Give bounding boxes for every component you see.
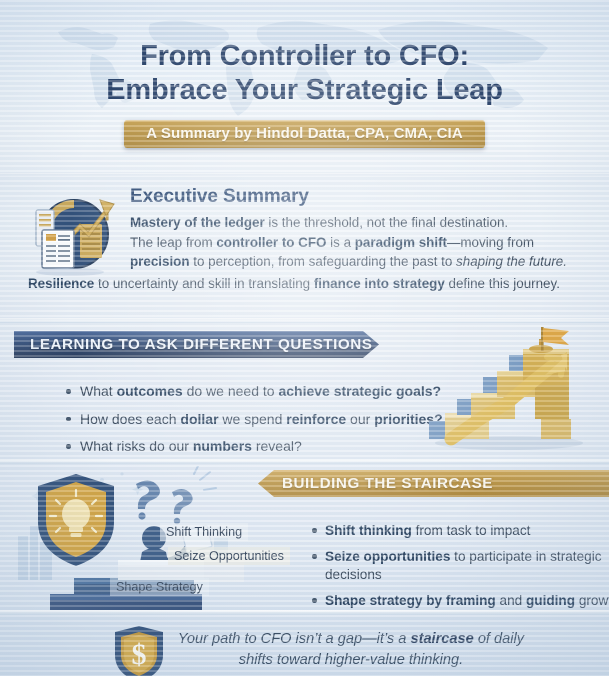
exec-line4-b: to uncertainty and skill in translating xyxy=(94,276,314,291)
building-staircase-section: BUILDING THE STAIRCASE Shift thinking fr… xyxy=(0,464,609,610)
page-title: From Controller to CFO: Embrace Your Str… xyxy=(0,0,609,107)
question-item: How does each dollar we spend reinforce … xyxy=(66,411,466,429)
header-section: From Controller to CFO: Embrace Your Str… xyxy=(0,0,609,176)
staircase-list: Shift thinking from task to impactSeize … xyxy=(272,522,609,610)
exec-line2-d: paradigm shift xyxy=(355,235,447,250)
exec-line1-rest: is the threshold, not the final destinat… xyxy=(265,215,508,230)
author-badge: A Summary by Hindol Datta, CPA, CMA, CIA xyxy=(124,120,485,148)
questions-list: What outcomes do we need to achieve stra… xyxy=(26,383,466,459)
question-item-segment: reveal? xyxy=(252,438,302,454)
dollar-shield-icon: $ xyxy=(112,625,166,676)
ledger-growth-icon xyxy=(22,186,118,278)
question-item-segment: What xyxy=(80,383,117,399)
step-label-shape-strategy: Shape Strategy xyxy=(110,578,209,596)
golden-staircase-illustration xyxy=(411,327,601,455)
shield-dollar-glyph: $ xyxy=(132,638,147,671)
exec-line3-c: shaping the future. xyxy=(456,254,567,269)
staircase-item: Shift thinking from task to impact xyxy=(312,522,609,539)
staircase-item-segment: and xyxy=(496,593,526,608)
exec-line2-e: —moving from xyxy=(447,235,534,250)
question-item-segment: outcomes xyxy=(117,383,183,399)
exec-line4-c: finance into strategy xyxy=(314,276,445,291)
footer-quote-b: staircase xyxy=(410,631,473,647)
question-item: What risks do our numbers reveal? xyxy=(66,438,466,456)
step-label-seize-opportunities: Seize Opportunities xyxy=(168,547,290,565)
question-item-segment: How does each xyxy=(80,411,180,427)
question-item-segment: What risks do our xyxy=(80,438,193,454)
author-badge-wrap: A Summary by Hindol Datta, CPA, CMA, CIA xyxy=(0,120,609,148)
executive-summary-section: Executive Summary Mastery of the ledger … xyxy=(0,176,609,318)
question-item-segment: we spend xyxy=(219,411,287,427)
exec-line3-a: precision xyxy=(130,254,190,269)
executive-summary-heading: Executive Summary xyxy=(130,184,597,208)
staircase-item-segment: guiding xyxy=(526,593,575,608)
question-item-segment: dollar xyxy=(180,411,218,427)
exec-line2-c: is a xyxy=(326,235,354,250)
footer-section: $ Your path to CFO isn’t a gap—it’s a st… xyxy=(0,615,609,676)
footer-quote: Your path to CFO isn’t a gap—it’s a stai… xyxy=(176,629,526,670)
infographic-poster: From Controller to CFO: Embrace Your Str… xyxy=(0,0,609,676)
exec-line2-b: controller to CFO xyxy=(216,235,326,250)
staircase-item-segment: Shift thinking xyxy=(325,523,412,538)
question-item-segment: do we need to xyxy=(183,383,279,399)
staircase-item-segment: Shape strategy by framing xyxy=(325,593,496,608)
staircase-item: Seize opportunities to participate in st… xyxy=(312,548,609,583)
questions-section: LEARNING TO ASK DIFFERENT QUESTIONS What… xyxy=(0,323,609,459)
title-line-2: Embrace Your Strategic Leap xyxy=(0,74,609,108)
staircase-item-segment: growth. xyxy=(575,593,609,608)
staircase-item-segment: from task to impact xyxy=(412,523,531,538)
footer-quote-a: Your path to CFO isn’t a gap—it’s a xyxy=(178,631,411,647)
exec-line4-d: define this journey. xyxy=(445,276,560,291)
questions-banner: LEARNING TO ASK DIFFERENT QUESTIONS xyxy=(14,331,379,358)
step-label-shift-thinking: Shift Thinking xyxy=(160,523,248,541)
exec-line2-a: The leap from xyxy=(130,235,216,250)
question-item: What outcomes do we need to achieve stra… xyxy=(66,383,466,401)
exec-line1-bold: Mastery of the ledger xyxy=(130,215,265,230)
staircase-item-segment: Seize opportunities xyxy=(325,549,450,564)
questions-banner-label: LEARNING TO ASK DIFFERENT QUESTIONS xyxy=(14,336,372,353)
executive-summary-paragraph: Mastery of the ledger is the threshold, … xyxy=(130,213,597,272)
exec-line3-b: to perception, from safeguarding the pas… xyxy=(190,254,457,269)
title-line-1: From Controller to CFO: xyxy=(140,40,469,72)
question-item-segment: our xyxy=(346,411,374,427)
question-item-segment: reinforce xyxy=(286,411,346,427)
staircase-item: Shape strategy by framing and guiding gr… xyxy=(312,592,609,609)
question-item-segment: numbers xyxy=(193,438,252,454)
staircase-banner-label: BUILDING THE STAIRCASE xyxy=(258,475,493,492)
staircase-banner: BUILDING THE STAIRCASE xyxy=(258,470,609,497)
